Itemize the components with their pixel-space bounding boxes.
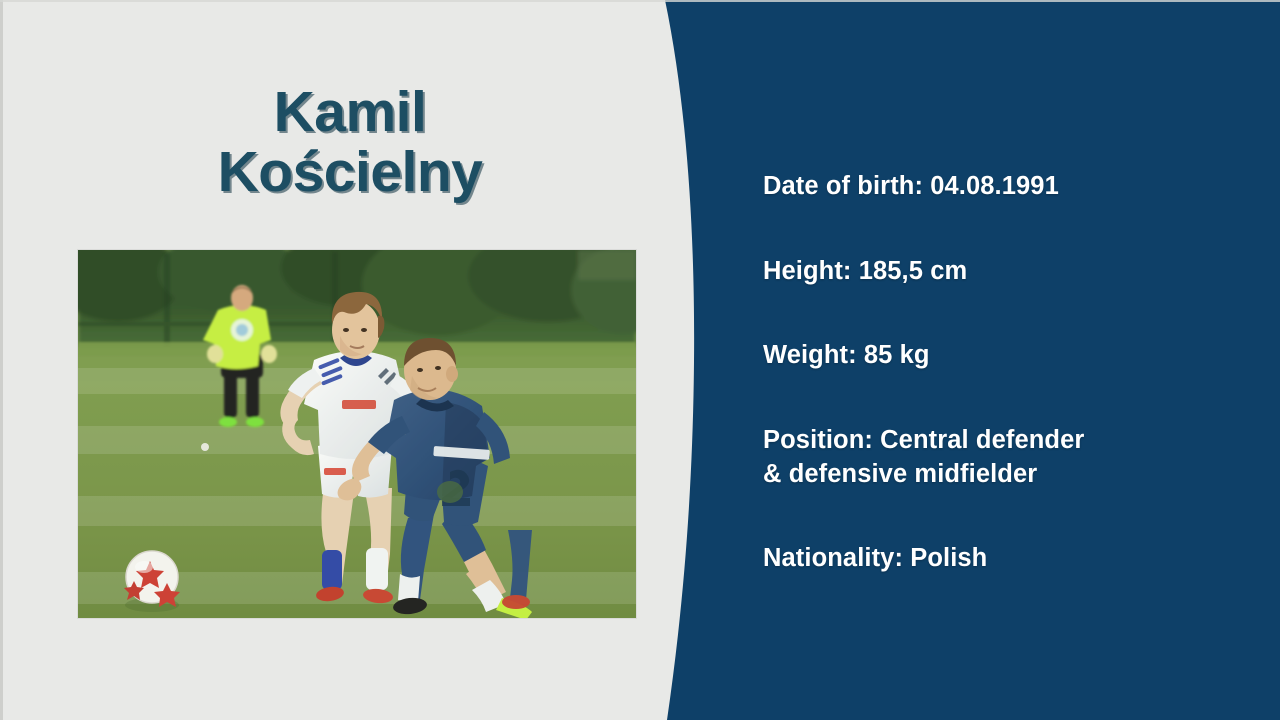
info-row-date-of-birth: Date of birth: 04.08.1991 (763, 170, 1233, 204)
presentation-slide: Kamil Kościelny (0, 0, 1280, 720)
slide-left-border (0, 0, 3, 720)
player-photo (78, 250, 636, 618)
info-row-nationality: Nationality: Polish (763, 542, 1233, 576)
slide-top-border (0, 0, 1280, 2)
title-line-first: Kamil (30, 82, 670, 142)
info-row-weight: Weight: 85 kg (763, 339, 1233, 373)
info-row-position: Position: Central defender & defensive m… (763, 424, 1233, 491)
title-line-last: Kościelny (30, 142, 670, 202)
player-info-list: Date of birth: 04.08.1991 Height: 185,5 … (763, 170, 1233, 576)
page-title: Kamil Kościelny (30, 82, 670, 203)
info-row-height: Height: 185,5 cm (763, 255, 1233, 289)
